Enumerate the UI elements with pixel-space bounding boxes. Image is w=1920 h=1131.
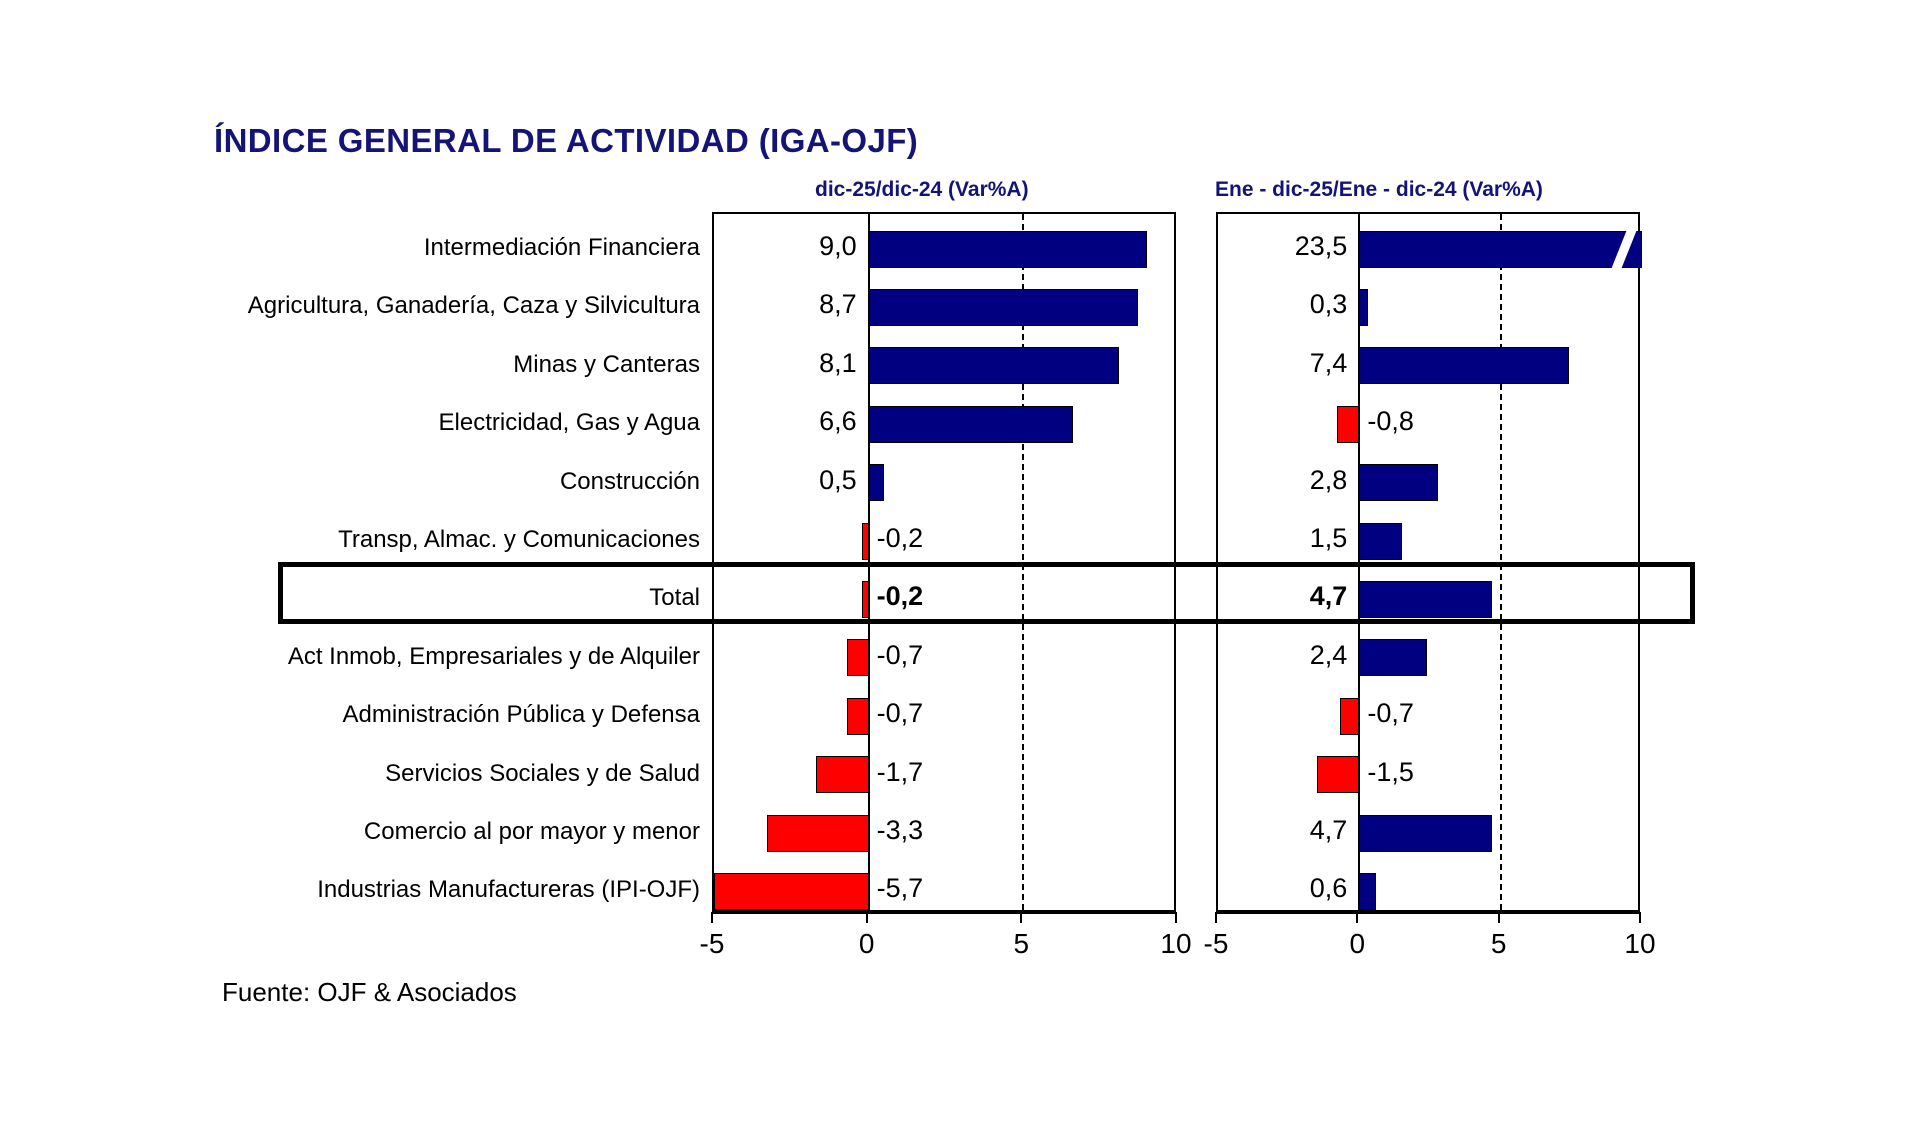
x-axis-tick-label: 10 [1160, 928, 1191, 960]
bar-value-label: 7,4 [0, 350, 1347, 377]
bar [1359, 347, 1568, 384]
bar-value-label: 2,4 [0, 642, 1347, 669]
bar [869, 406, 1073, 443]
x-axis-line [1216, 912, 1640, 914]
x-axis-tick-label: 10 [1624, 928, 1655, 960]
x-axis-tick [1639, 912, 1641, 923]
bar-value-label: 4,7 [0, 817, 1347, 844]
bar-value-label: -1,7 [877, 759, 924, 786]
x-axis-tick [1175, 912, 1177, 923]
category-label: Servicios Sociales y de Salud [0, 760, 700, 788]
bar [1359, 815, 1492, 852]
x-axis-tick [866, 912, 868, 923]
bar-value-label: -0,7 [877, 700, 924, 727]
bar-value-label: 23,5 [0, 233, 1347, 260]
x-axis-tick-label: 5 [1014, 928, 1030, 960]
bar [1340, 698, 1360, 735]
x-axis-tick [1020, 912, 1022, 923]
gridline-5 [1500, 214, 1502, 910]
bar [1359, 464, 1438, 501]
bar-value-label: 0,3 [0, 291, 1347, 318]
x-axis-tick [1498, 912, 1500, 923]
bar [1359, 873, 1376, 910]
x-axis-tick [1215, 912, 1217, 923]
bar-value-label: -1,5 [1367, 759, 1414, 786]
bar [1317, 756, 1359, 793]
bar [816, 756, 869, 793]
right-column-header: Ene - dic-25/Ene - dic-24 (Var%A) [1215, 178, 1543, 202]
bar-value-label: -0,7 [1367, 700, 1414, 727]
bar [847, 698, 869, 735]
x-axis-line [712, 912, 1176, 914]
bar-value-label: 0,6 [0, 875, 1347, 902]
x-axis-tick-label: 5 [1491, 928, 1507, 960]
source-note: Fuente: OJF & Asociados [222, 977, 517, 1008]
bar [1359, 523, 1401, 560]
x-axis-tick-label: -5 [700, 928, 725, 960]
x-axis-tick-label: 0 [859, 928, 875, 960]
bar [1359, 639, 1427, 676]
chart-root: ÍNDICE GENERAL DE ACTIVIDAD (IGA-OJF) di… [0, 0, 1920, 1131]
page-title: ÍNDICE GENERAL DE ACTIVIDAD (IGA-OJF) [214, 122, 918, 160]
left-column-header: dic-25/dic-24 (Var%A) [815, 178, 1029, 202]
bar [1359, 289, 1367, 326]
x-axis-tick [711, 912, 713, 923]
bar-value-label: 4,7 [0, 583, 1347, 610]
x-axis-tick-label: 0 [1350, 928, 1366, 960]
bar [1359, 231, 1642, 268]
x-axis-tick-label: -5 [1204, 928, 1229, 960]
bar [1337, 406, 1360, 443]
bar-value-label: 2,8 [0, 467, 1347, 494]
bar [1359, 581, 1492, 618]
category-label: Administración Pública y Defensa [0, 701, 700, 729]
bar-value-label: 6,6 [0, 408, 857, 435]
bar-value-label: 1,5 [0, 525, 1347, 552]
x-axis-tick [1356, 912, 1358, 923]
bar-value-label: -0,8 [1367, 408, 1414, 435]
